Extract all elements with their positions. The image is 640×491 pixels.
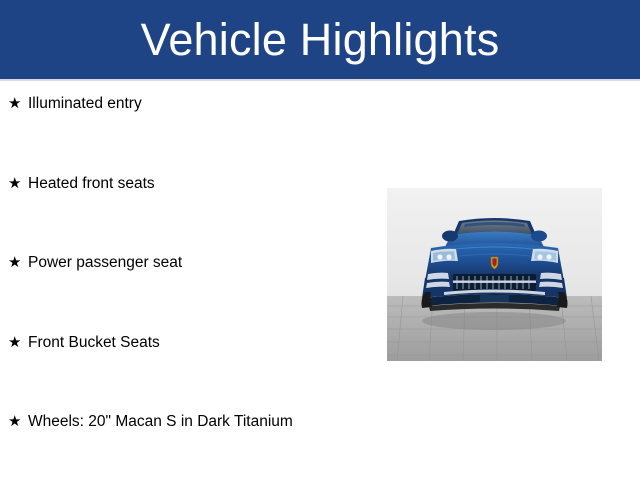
page-title: Vehicle Highlights: [141, 17, 500, 62]
star-bullet-icon: ★: [8, 252, 28, 274]
slide-header: Vehicle Highlights: [0, 0, 640, 79]
header-divider: [0, 79, 640, 81]
vehicle-photo: [387, 188, 602, 361]
list-item: ★ Heated front seats: [0, 173, 380, 253]
list-item: ★ Illuminated entry: [0, 93, 380, 173]
star-bullet-icon: ★: [8, 93, 28, 115]
list-item-label: Front Bucket Seats: [28, 332, 380, 354]
list-item-label: Heated front seats: [28, 173, 380, 195]
list-item-label: Illuminated entry: [28, 93, 380, 115]
list-item: ★ Wheels: 20" Macan S in Dark Titanium: [0, 411, 380, 491]
list-item: ★ Front Bucket Seats: [0, 332, 380, 412]
star-bullet-icon: ★: [8, 332, 28, 354]
list-item: ★ Power passenger seat: [0, 252, 380, 332]
star-bullet-icon: ★: [8, 411, 28, 433]
vehicle-highlights-slide: Vehicle Highlights ★ Illuminated entry ★…: [0, 0, 640, 480]
highlights-list: ★ Illuminated entry ★ Heated front seats…: [0, 93, 380, 491]
list-item-label: Power passenger seat: [28, 252, 380, 274]
list-item-label: Wheels: 20" Macan S in Dark Titanium: [28, 411, 380, 433]
star-bullet-icon: ★: [8, 173, 28, 195]
